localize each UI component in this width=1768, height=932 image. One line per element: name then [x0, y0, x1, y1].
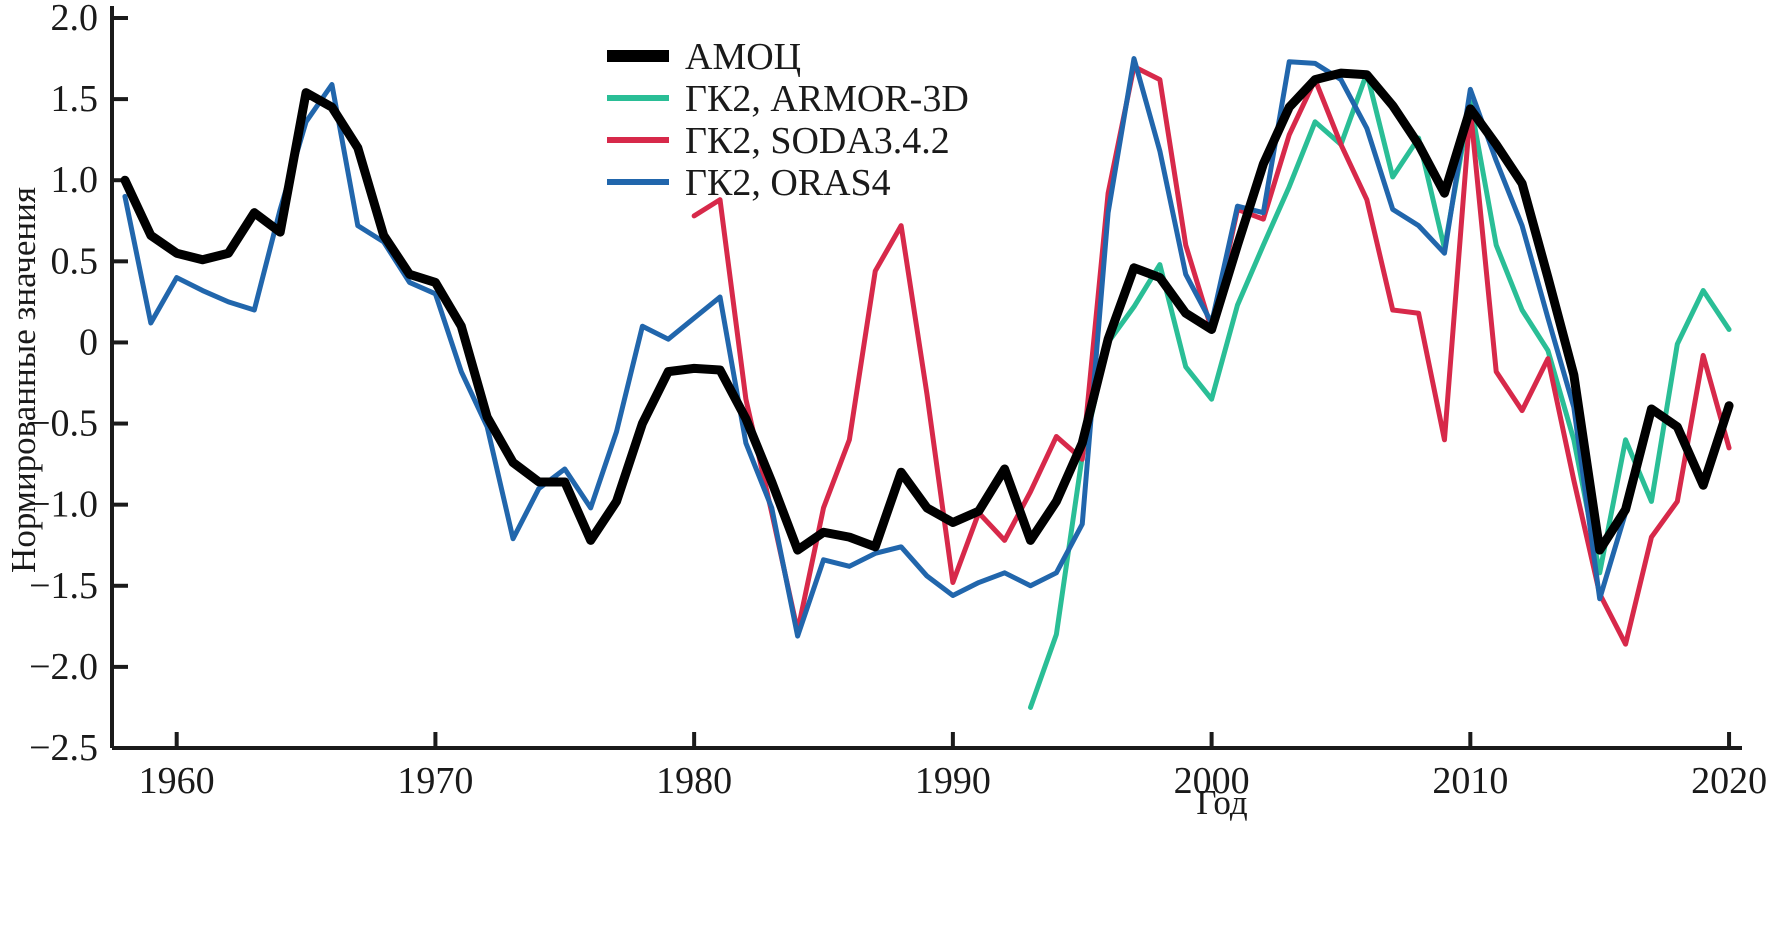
x-tick-label: 1970	[397, 760, 473, 802]
x-tick-label: 2010	[1432, 760, 1508, 802]
legend-label-2: ГК2, ARMOR-3D	[685, 78, 969, 120]
y-tick-label: 1.5	[51, 78, 99, 120]
y-tick-label: 1.0	[51, 159, 99, 201]
legend-label-1: АМОЦ	[685, 36, 801, 78]
y-tick-label: −2.0	[29, 646, 98, 688]
x-tick-label: 1990	[915, 760, 991, 802]
y-tick-label: 0	[79, 321, 98, 363]
x-axis-title: Год	[1196, 783, 1248, 822]
y-tick-label: 0.5	[51, 240, 99, 282]
x-tick-label: 1980	[656, 760, 732, 802]
line-chart: 2.01.51.00.50−0.5−1.0−1.5−2.0−2.5 196019…	[0, 0, 1768, 932]
y-tick-label: 2.0	[51, 0, 99, 39]
x-tick-label: 1960	[139, 760, 215, 802]
x-tick-label: 2020	[1691, 760, 1767, 802]
legend-label-3: ГК2, SODA3.4.2	[685, 120, 950, 162]
chart-figure: 2.01.51.00.50−0.5−1.0−1.5−2.0−2.5 196019…	[0, 0, 1768, 932]
y-axis-title: Нормированные значения	[4, 187, 43, 573]
legend-label-4: ГК2, ORAS4	[685, 162, 891, 204]
y-tick-label: −2.5	[29, 727, 98, 769]
